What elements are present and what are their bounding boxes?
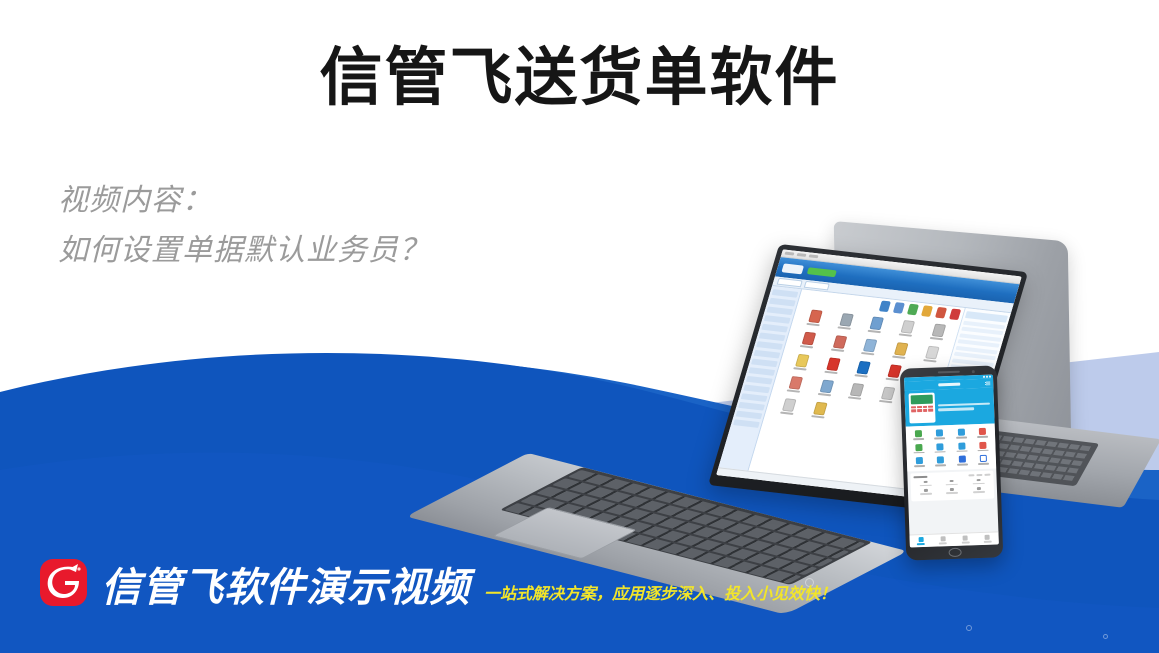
phone-camera-icon (972, 370, 975, 373)
erp-toolbar-button[interactable] (921, 305, 933, 317)
decorative-dot (966, 625, 972, 631)
erp-menu-file[interactable] (785, 252, 795, 256)
mobile-function-icon[interactable] (951, 428, 971, 438)
erp-module-icon[interactable] (794, 331, 824, 349)
brand-tagline: 一站式解决方案，应用逐步深入、投入小见效快！ (484, 585, 836, 603)
brand-name: 信管飞软件演示视频 (101, 566, 470, 610)
laptop-front (530, 235, 950, 515)
erp-sidebar-item[interactable] (761, 324, 788, 333)
erp-module-icon[interactable] (848, 360, 878, 378)
mobile-tab-item[interactable] (932, 536, 954, 544)
erp-tab-item[interactable] (804, 281, 830, 290)
brand-bar: 信管飞软件演示视频 一站式解决方案，应用逐步深入、投入小见效快！ (40, 559, 836, 610)
erp-module-icon[interactable] (787, 353, 817, 371)
presentation-slide: 信管飞送货单软件 视频内容： 如何设置单据默认业务员？ (0, 0, 1159, 653)
mobile-app-title (938, 382, 960, 386)
erp-module-icon[interactable] (800, 309, 830, 327)
mobile-function-icon[interactable] (973, 441, 993, 451)
erp-module-icon[interactable] (855, 338, 885, 356)
erp-module-icon[interactable] (781, 375, 811, 393)
mobile-function-icon[interactable] (910, 457, 930, 467)
erp-logo-icon (782, 263, 805, 274)
stats-title (913, 476, 927, 478)
erp-sidebar-item[interactable] (772, 289, 799, 298)
video-content-block: 视频内容： 如何设置单据默认业务员？ (58, 176, 430, 276)
erp-sidebar-item[interactable] (769, 298, 796, 307)
mobile-tab-item[interactable] (954, 535, 976, 543)
erp-sidebar-item[interactable] (748, 367, 775, 376)
battery-icon (989, 376, 991, 378)
wifi-icon (986, 376, 988, 378)
erp-module-icon[interactable] (892, 319, 922, 337)
erp-module-icon[interactable] (886, 341, 916, 359)
erp-menu-view[interactable] (809, 254, 819, 258)
erp-module-icon[interactable] (774, 397, 804, 415)
erp-module-icon[interactable] (873, 386, 903, 404)
mobile-tab-item[interactable] (910, 537, 932, 545)
video-content-label: 视频内容： (58, 176, 430, 226)
erp-status-badge (807, 267, 837, 277)
erp-module-icon[interactable] (818, 357, 848, 375)
mobile-app-screenshot (904, 374, 999, 547)
banner-thumbnail (909, 393, 936, 424)
stats-row (914, 487, 991, 495)
erp-module-icon[interactable] (916, 345, 946, 363)
erp-sidebar-item[interactable] (751, 359, 778, 368)
erp-toolbar-button[interactable] (879, 300, 891, 312)
mobile-function-icon[interactable] (931, 443, 951, 453)
mobile-function-icon[interactable] (909, 430, 929, 440)
video-content-question: 如何设置单据默认业务员？ (58, 226, 430, 276)
erp-sidebar-item[interactable] (756, 341, 783, 350)
erp-module-icon[interactable] (824, 334, 854, 352)
erp-menu-edit[interactable] (797, 253, 807, 257)
hamburger-menu-icon[interactable] (985, 381, 990, 385)
stats-filter-group[interactable] (968, 473, 990, 476)
mobile-function-icon[interactable] (931, 456, 951, 466)
mobile-stats-card (910, 470, 994, 501)
erp-sidebar-item[interactable] (736, 411, 763, 420)
erp-module-icon[interactable] (811, 379, 841, 397)
phone-speaker (937, 371, 959, 374)
phone-home-button[interactable] (948, 548, 961, 557)
erp-toolbar-button[interactable] (907, 304, 919, 316)
signal-icon (983, 376, 985, 378)
mobile-function-icon[interactable] (930, 429, 950, 439)
erp-sidebar-item[interactable] (746, 376, 773, 385)
mobile-function-icon[interactable] (952, 455, 972, 465)
erp-sidebar-item[interactable] (743, 385, 770, 394)
smartphone (900, 365, 1004, 560)
page-title: 信管飞送货单软件 (0, 40, 1159, 116)
xinguanfei-logo-icon (40, 559, 87, 606)
erp-sidebar-item[interactable] (738, 402, 765, 411)
erp-toolbar-button[interactable] (893, 302, 905, 314)
erp-sidebar-item[interactable] (733, 419, 760, 428)
erp-sidebar-item[interactable] (741, 393, 768, 402)
mobile-function-icon[interactable] (973, 428, 993, 438)
phone-body (900, 365, 1004, 560)
decorative-dot (1103, 634, 1108, 639)
erp-sidebar-item[interactable] (754, 350, 781, 359)
erp-module-icon[interactable] (842, 382, 872, 400)
erp-module-icon[interactable] (805, 401, 835, 419)
erp-sidebar-item[interactable] (759, 332, 786, 341)
banner-text (938, 402, 990, 411)
mobile-function-grid[interactable] (906, 423, 997, 471)
stats-row (914, 478, 991, 486)
mobile-function-icon[interactable] (973, 455, 993, 465)
erp-module-icon[interactable] (862, 316, 892, 334)
mobile-function-icon[interactable] (909, 443, 929, 453)
mobile-function-icon[interactable] (952, 442, 972, 452)
mobile-tab-item[interactable] (976, 535, 998, 543)
erp-toolbar-button[interactable] (935, 307, 947, 319)
erp-sidebar-item[interactable] (766, 306, 793, 315)
erp-sidebar-item[interactable] (764, 315, 791, 324)
mobile-banner-card[interactable] (904, 387, 994, 426)
erp-module-icon[interactable] (831, 312, 861, 330)
mobile-tab-bar[interactable] (909, 531, 998, 547)
erp-tab-item[interactable] (777, 278, 803, 287)
erp-module-icon[interactable] (923, 323, 953, 341)
